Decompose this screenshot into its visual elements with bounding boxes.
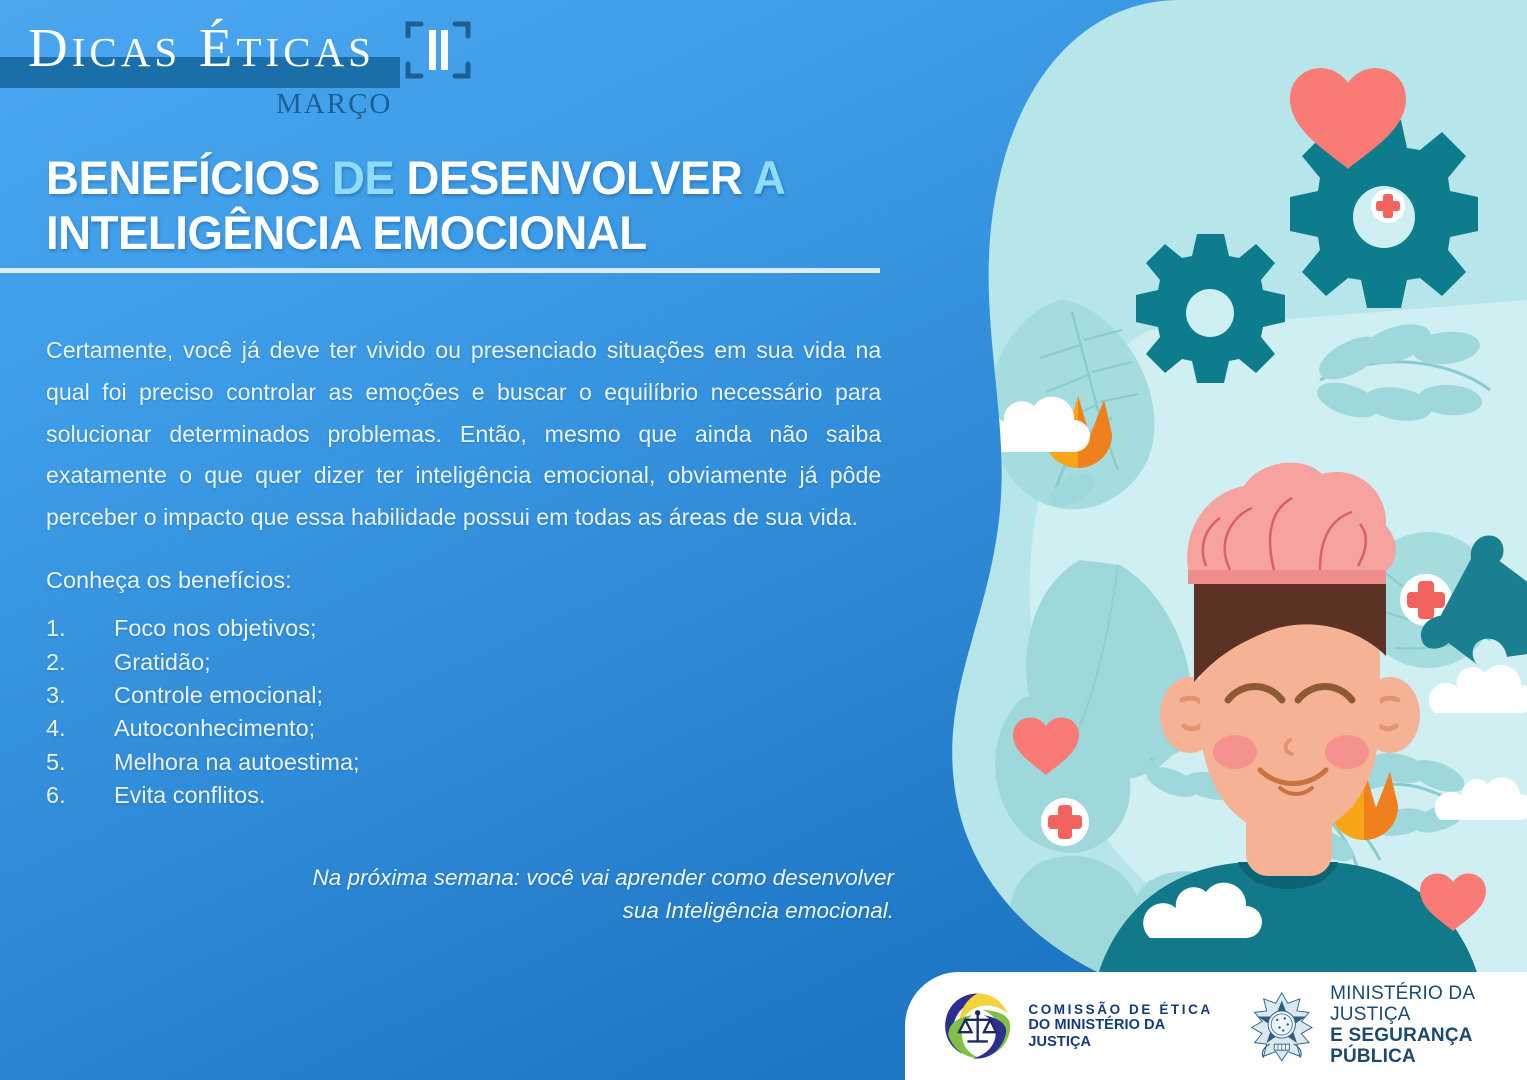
list-item: 6. Evita conflitos. [46,779,894,812]
benefits-list: 1. Foco nos objetivos; 2. Gratidão; 3. C… [46,612,894,812]
page-title: BENEFÍCIOS DE DESENVOLVER A INTELIGÊNCIA… [46,150,900,261]
ministry-line-1: MINISTÉRIO DA JUSTIÇA [1330,984,1527,1026]
next-week-note: Na próxima semana: você vai aprender com… [300,862,894,927]
ethics-line-1: COMISSÃO DE ÉTICA [1028,1002,1215,1017]
list-item-number: 6. [46,779,114,812]
list-item-number: 2. [46,646,114,679]
list-item-number: 4. [46,712,114,745]
body-content: Certamente, você já deve ter vivido ou p… [46,330,894,812]
brazil-coat-of-arms-icon [1244,985,1320,1067]
benefits-lead: Conheça os benefícios: [46,567,894,594]
cheek-right [1325,735,1369,769]
list-item-number: 1. [46,612,114,645]
list-item: 1. Foco nos objetivos; [46,612,894,645]
list-item-label: Melhora na autoestima; [114,746,360,779]
illustration-svg [850,0,1527,1080]
list-item-number: 3. [46,679,114,712]
ministry-text: MINISTÉRIO DA JUSTIÇA E SEGURANÇA PÚBLIC… [1330,984,1527,1068]
footer-logo-bar: COMISSÃO DE ÉTICA DO MINISTÉRIO DA JUSTI… [905,972,1527,1080]
list-item-label: Gratidão; [114,646,211,679]
title-word-de: DE [332,151,394,204]
ministry-line-2: E SEGURANÇA PÚBLICA [1330,1026,1527,1068]
brand-icas: ICAS [72,29,181,75]
list-item: 2. Gratidão; [46,646,894,679]
intro-paragraph: Certamente, você já deve ter vivido ou p… [46,330,881,539]
list-item: 5. Melhora na autoestima; [46,746,894,779]
brand-d: D [28,17,72,78]
medical-cross-badge-lower-icon [1041,798,1089,846]
poster-canvas: DICAS ÉTICAS MARÇO BENEFÍCIOS DE DESENVO… [0,0,1527,1080]
ethics-swirl-scales-icon [939,984,1016,1068]
brand-logo: DICAS ÉTICAS MARÇO [0,0,500,130]
list-item-label: Controle emocional; [114,679,323,712]
title-line-2: INTELIGÊNCIA EMOCIONAL [46,205,900,260]
medical-cross-badge-top-icon [1371,189,1405,223]
month-label: MARÇO [276,88,392,121]
list-item-label: Foco nos objetivos; [114,612,316,645]
title-word-desenvolver: DESENVOLVER [394,151,752,204]
list-item-label: Autoconhecimento; [114,712,315,745]
title-word-beneficios: BENEFÍCIOS [46,151,332,204]
scan-frame-pause-icon [404,16,472,84]
cheek-left [1213,735,1257,769]
list-item: 3. Controle emocional; [46,679,894,712]
ethics-commission-logo: COMISSÃO DE ÉTICA DO MINISTÉRIO DA JUSTI… [939,984,1216,1068]
ministry-logo: MINISTÉRIO DA JUSTIÇA E SEGURANÇA PÚBLIC… [1244,984,1527,1068]
list-item: 4. Autoconhecimento; [46,712,894,745]
illustration-panel [850,0,1527,1080]
brand-ticas: TICAS [237,29,375,75]
list-item-label: Evita conflitos. [114,779,266,812]
ethics-line-2: DO MINISTÉRIO DA JUSTIÇA [1028,1017,1215,1049]
title-word-a: A [753,151,785,204]
list-item-number: 5. [46,746,114,779]
gear-small-icon [1136,234,1285,383]
ethics-commission-text: COMISSÃO DE ÉTICA DO MINISTÉRIO DA JUSTI… [1028,1002,1215,1050]
brand-e: É [199,17,237,78]
brand-title: DICAS ÉTICAS [28,20,375,75]
title-divider [0,268,880,273]
